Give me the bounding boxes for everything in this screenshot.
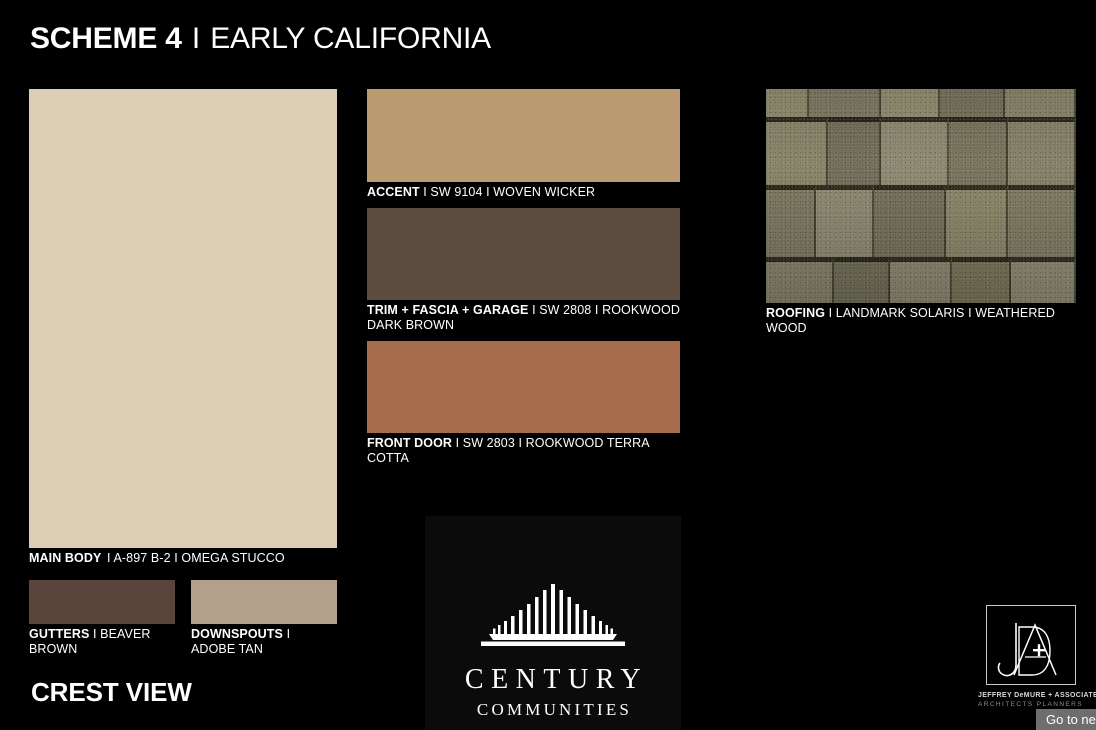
main-body-label-separator: I: [107, 551, 111, 565]
downspouts-color-swatch: [191, 580, 337, 624]
gutters-color-swatch: [29, 580, 175, 624]
trim-color-swatch: [367, 208, 680, 300]
accent-label-color-name: WOVEN WICKER: [493, 185, 595, 199]
front-door-color-swatch: [367, 341, 680, 433]
accent-label-separator-2: I: [486, 185, 490, 199]
main-body-label-color-name: OMEGA STUCCO: [181, 551, 284, 565]
main-body-label-separator-2: I: [174, 551, 178, 565]
building-skyline-icon: [479, 584, 627, 651]
go-to-next-tooltip[interactable]: Go to ne: [1036, 709, 1096, 730]
gutters-swatch-group: GUTTERS I BEAVER BROWN: [29, 580, 175, 657]
front-door-label: FRONT DOOR I SW 2803 I ROOKWOOD TERRA CO…: [367, 436, 680, 466]
trim-label-separator-2: I: [595, 303, 599, 317]
project-name: CREST VIEW: [31, 676, 192, 708]
front-door-label-separator-2: I: [518, 436, 522, 450]
jda-monogram-icon: [978, 605, 1078, 694]
century-communities-logo: CENTURY COMMUNITIES: [425, 516, 681, 730]
roofing-shingle-image: [766, 89, 1076, 303]
jda-architect-logo: JEFFREY DeMURE + ASSOCIATES ARCHITECTS P…: [978, 605, 1078, 713]
front-door-label-name: FRONT DOOR: [367, 436, 452, 450]
accent-swatch-group: ACCENT I SW 9104 I WOVEN WICKER: [367, 89, 680, 200]
accent-label: ACCENT I SW 9104 I WOVEN WICKER: [367, 185, 680, 200]
roofing-label-separator: I: [829, 306, 833, 320]
century-communities-subtitle: COMMUNITIES: [474, 700, 632, 720]
roofing-label-name: ROOFING: [766, 306, 825, 320]
secondary-swatch-row: GUTTERS I BEAVER BROWN DOWNSPOUTS I ADOB…: [29, 580, 337, 657]
roofing-label-code: LANDMARK SOLARIS: [836, 306, 965, 320]
gutters-label: GUTTERS I BEAVER BROWN: [29, 627, 175, 657]
main-body-label-code: A-897 B-2: [113, 551, 170, 565]
gutters-label-separator: I: [93, 627, 97, 641]
trim-swatch-group: TRIM + FASCIA + GARAGE I SW 2808 I ROOKW…: [367, 208, 680, 333]
page-title-name: EARLY CALIFORNIA: [210, 22, 491, 55]
page-title: SCHEME 4 I EARLY CALIFORNIA: [30, 20, 491, 58]
trim-label-code: SW 2808: [539, 303, 591, 317]
page-title-scheme: SCHEME 4: [30, 22, 182, 55]
main-body-swatch-group: MAIN BODY I A-897 B-2 I OMEGA STUCCO: [29, 89, 337, 566]
main-body-label: MAIN BODY I A-897 B-2 I OMEGA STUCCO: [29, 551, 337, 566]
shingle-granule-texture: [766, 89, 1076, 303]
main-body-color-swatch: [29, 89, 337, 548]
main-body-label-name: MAIN BODY: [29, 551, 101, 565]
trim-label-name: TRIM + FASCIA + GARAGE: [367, 303, 528, 317]
downspouts-label-code: ADOBE TAN: [191, 642, 263, 656]
gutters-label-name: GUTTERS: [29, 627, 89, 641]
accent-color-swatch: [367, 89, 680, 182]
accent-label-code: SW 9104: [430, 185, 482, 199]
front-door-swatch-group: FRONT DOOR I SW 2803 I ROOKWOOD TERRA CO…: [367, 341, 680, 466]
downspouts-swatch-group: DOWNSPOUTS I ADOBE TAN: [191, 580, 337, 657]
century-communities-name: CENTURY: [458, 665, 648, 695]
trim-label-separator: I: [532, 303, 536, 317]
downspouts-label-separator: I: [287, 627, 291, 641]
accent-label-name: ACCENT: [367, 185, 420, 199]
roofing-swatch-group: ROOFING I LANDMARK SOLARIS I WEATHERED W…: [766, 89, 1076, 336]
trim-label: TRIM + FASCIA + GARAGE I SW 2808 I ROOKW…: [367, 303, 680, 333]
roofing-label: ROOFING I LANDMARK SOLARIS I WEATHERED W…: [766, 306, 1076, 336]
front-door-label-separator: I: [456, 436, 460, 450]
downspouts-label-name: DOWNSPOUTS: [191, 627, 283, 641]
roofing-label-separator-2: I: [968, 306, 972, 320]
jda-firm-discipline: ARCHITECTS PLANNERS: [978, 701, 1078, 708]
middle-swatch-column: ACCENT I SW 9104 I WOVEN WICKER TRIM + F…: [367, 89, 680, 474]
front-door-label-code: SW 2803: [463, 436, 515, 450]
jda-firm-name: JEFFREY DeMURE + ASSOCIATES: [978, 692, 1078, 699]
downspouts-label: DOWNSPOUTS I ADOBE TAN: [191, 627, 337, 657]
page-title-separator: I: [190, 22, 202, 55]
accent-label-separator: I: [423, 185, 427, 199]
